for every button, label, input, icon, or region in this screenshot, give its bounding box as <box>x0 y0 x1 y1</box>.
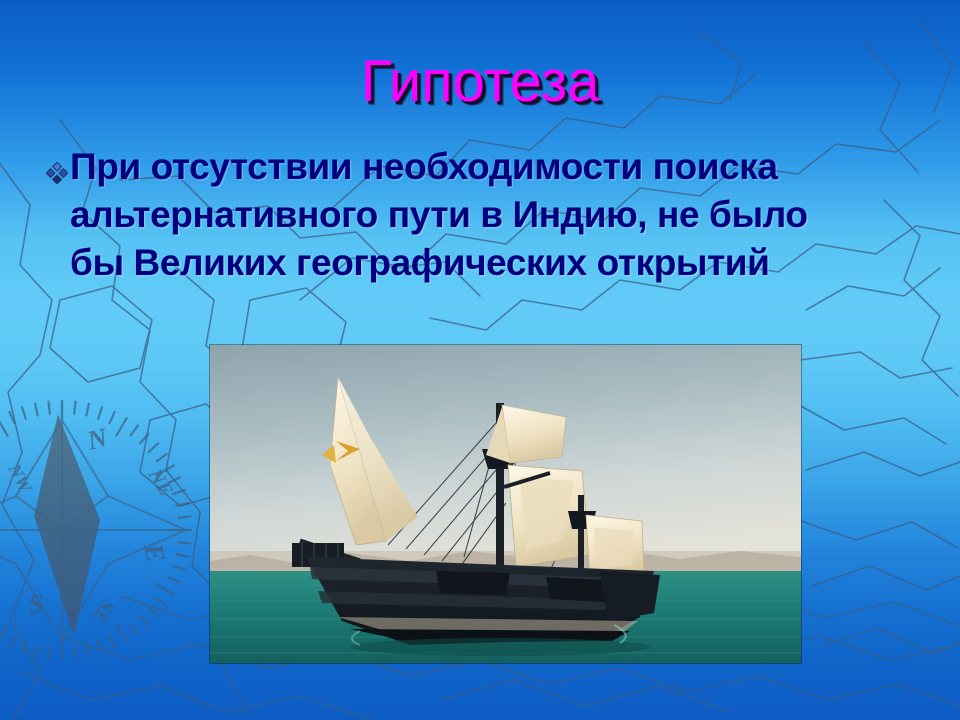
compass-label-n: N <box>83 422 112 456</box>
compass-star-outline <box>0 420 186 640</box>
compass-needle <box>34 414 100 636</box>
sailing-ship-photo <box>210 345 801 663</box>
slide-title: Гипотеза <box>0 52 960 112</box>
slide-body: При отсутствии необходимости поиска альт… <box>44 143 916 287</box>
bullet-line-2: альтернативного пути в Индию, не было <box>70 191 916 239</box>
compass-label-se: SE <box>88 596 119 628</box>
compass-label-e: E <box>138 540 171 565</box>
compass-rose-icon: N NE E SE S NW <box>0 400 192 660</box>
compass-tick-ring <box>0 400 192 660</box>
bullet-line-1: При отсутствии необходимости поиска <box>70 143 916 191</box>
compass-label-s: S <box>27 588 46 620</box>
presentation-slide: N NE E SE S NW Гипотеза <box>0 0 960 720</box>
four-diamond-bullet-icon <box>44 153 70 193</box>
compass-direction-labels: N NE E SE S NW <box>4 422 177 628</box>
bullet-line-3: бы Великих географических открытий <box>70 239 916 287</box>
bullet-text-block: При отсутствии необходимости поиска альт… <box>70 143 916 287</box>
bullet-list-item: При отсутствии необходимости поиска альт… <box>44 143 916 287</box>
compass-label-nw: NW <box>4 460 37 498</box>
compass-label-ne: NE <box>143 464 177 500</box>
